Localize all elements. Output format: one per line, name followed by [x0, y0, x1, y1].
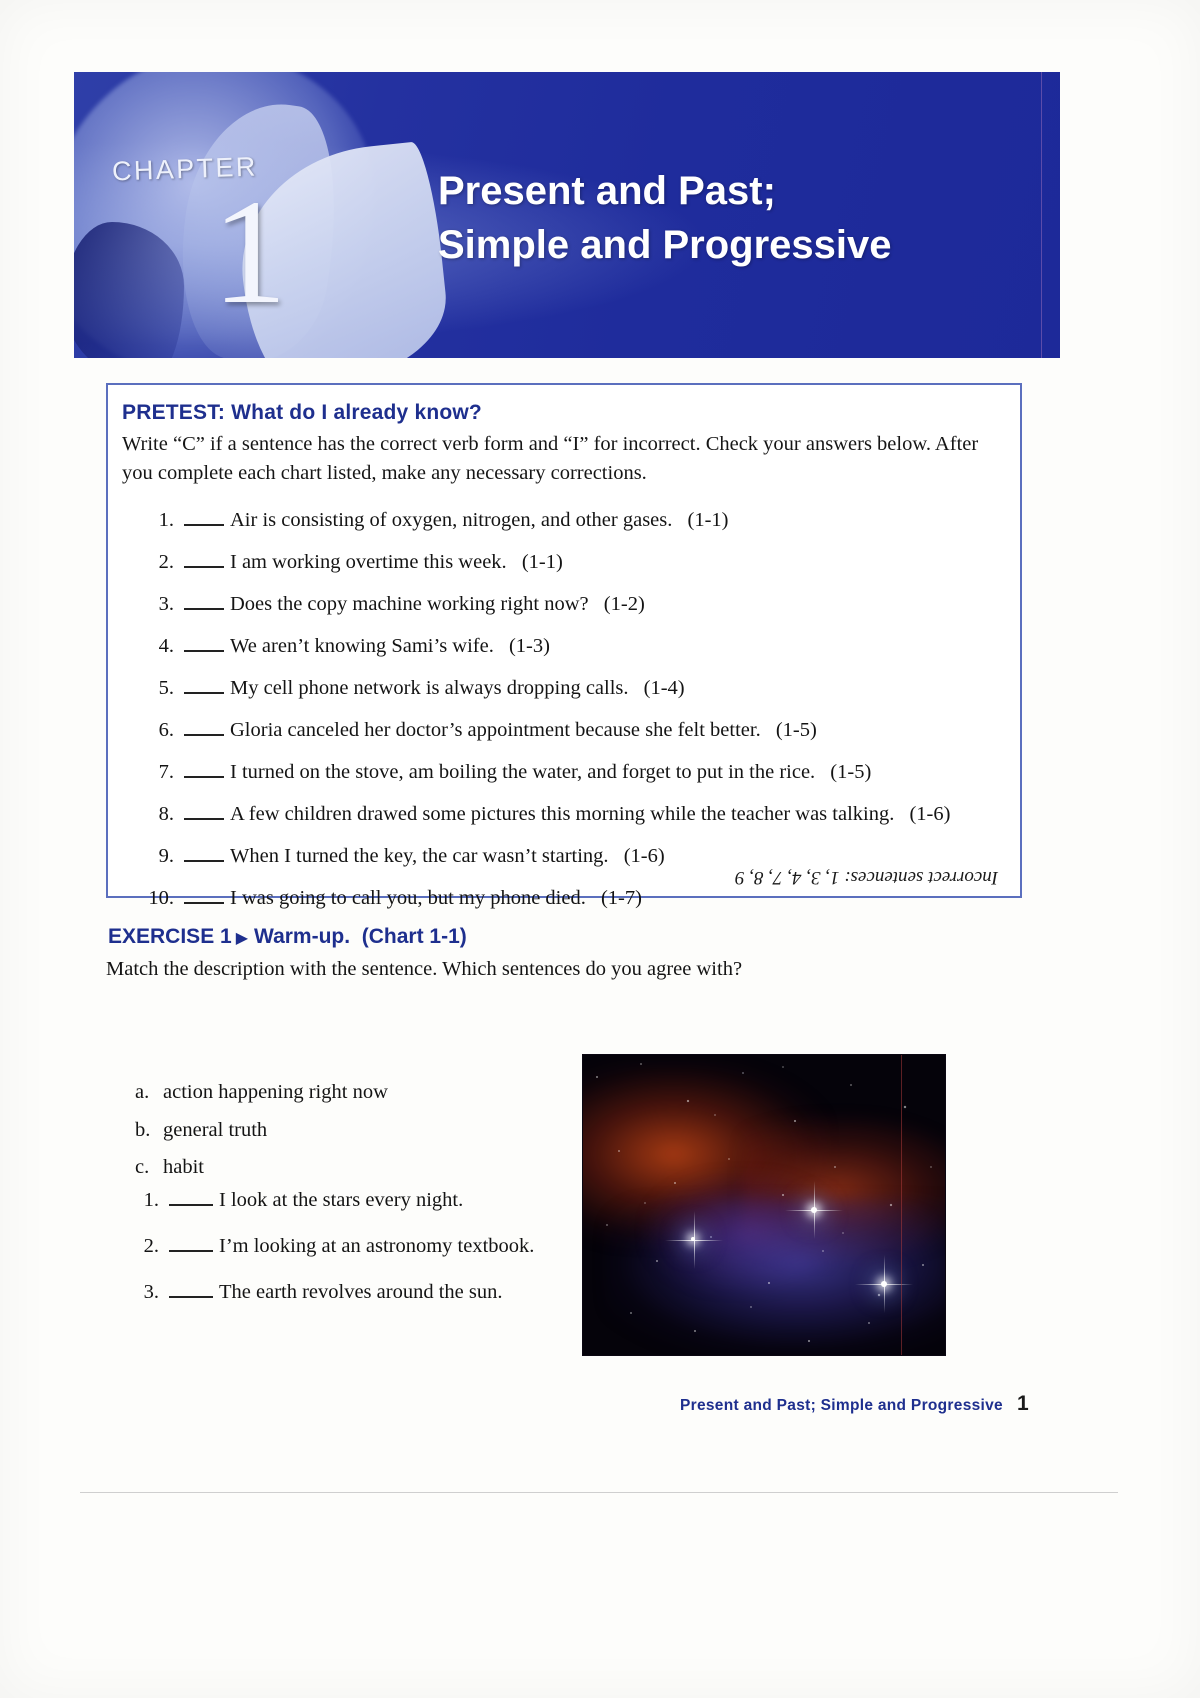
- chart-reference: (1-5): [776, 719, 817, 741]
- exercise-choice-list: a.action happening right now b.general t…: [135, 1082, 388, 1195]
- chart-reference: (1-6): [909, 803, 950, 825]
- item-sentence: A few children drawed some pictures this…: [230, 802, 1002, 827]
- exercise-item-list: 1. I look at the stars every night. 2. I…: [135, 1187, 565, 1325]
- choice-text: habit: [163, 1156, 204, 1178]
- bright-star-icon: [811, 1207, 817, 1213]
- choice-item: c.habit: [135, 1157, 388, 1178]
- pretest-item: 9. When I turned the key, the car wasn’t…: [122, 842, 1002, 868]
- answer-blank[interactable]: [184, 842, 224, 861]
- pretest-item: 4. We aren’t knowing Sami’s wife. (1-3): [122, 632, 1002, 658]
- answer-blank[interactable]: [169, 1187, 213, 1206]
- page-number: 1: [1017, 1392, 1029, 1415]
- item-number: 4.: [122, 634, 182, 659]
- choice-text: general truth: [163, 1119, 267, 1141]
- chart-reference: (1-6): [624, 845, 665, 867]
- chart-reference: (1-3): [509, 635, 550, 657]
- chapter-banner: CHAPTER 1 Present and Past; Simple and P…: [74, 72, 1060, 358]
- running-head: Present and Past; Simple and Progressive: [680, 1397, 1003, 1414]
- exercise-item: 2. I’m looking at an astronomy textbook.: [135, 1233, 565, 1259]
- item-sentence: I look at the stars every night.: [219, 1188, 463, 1213]
- bright-star-icon: [881, 1281, 887, 1287]
- item-number: 9.: [122, 844, 182, 869]
- exercise-label: EXERCISE 1: [108, 925, 232, 948]
- page-bottom-rule: [80, 1492, 1118, 1493]
- answer-blank[interactable]: [184, 590, 224, 609]
- chapter-title-line2: Simple and Progressive: [438, 218, 1038, 272]
- chapter-title-line1: Present and Past;: [438, 169, 776, 213]
- pretest-item: 5. My cell phone network is always dropp…: [122, 674, 1002, 700]
- choice-text: action happening right now: [163, 1081, 388, 1103]
- item-sentence: When I turned the key, the car wasn’t st…: [230, 844, 1002, 869]
- item-sentence: We aren’t knowing Sami’s wife. (1-3): [230, 634, 1002, 659]
- chart-reference: (1-4): [644, 677, 685, 699]
- answer-blank[interactable]: [169, 1279, 213, 1298]
- item-number: 1.: [135, 1188, 167, 1213]
- exercise-item: 3. The earth revolves around the sun.: [135, 1279, 565, 1305]
- triangle-right-icon: ▶: [232, 930, 254, 947]
- chart-reference: (1-1): [688, 509, 729, 531]
- pretest-title: PRETEST: What do I already know?: [122, 401, 1002, 425]
- pretest-item: 10. I was going to call you, but my phon…: [122, 884, 1002, 910]
- bright-star-icon: [691, 1237, 695, 1241]
- pretest-item-list: 1. Air is consisting of oxygen, nitrogen…: [122, 506, 1002, 910]
- textbook-page: CHAPTER 1 Present and Past; Simple and P…: [0, 0, 1200, 1698]
- item-sentence: Does the copy machine working right now?…: [230, 592, 1002, 617]
- item-number: 5.: [122, 676, 182, 701]
- item-number: 3.: [135, 1280, 167, 1305]
- item-number: 10.: [122, 886, 182, 911]
- pretest-instructions: Write “C” if a sentence has the correct …: [122, 430, 1002, 488]
- item-sentence: I turned on the stove, am boiling the wa…: [230, 760, 1002, 785]
- exercise-directions: Match the description with the sentence.…: [106, 955, 1006, 984]
- starfield-galaxy-photo: [582, 1054, 946, 1356]
- item-sentence: The earth revolves around the sun.: [219, 1280, 503, 1305]
- item-number: 2.: [122, 550, 182, 575]
- choice-label: c.: [135, 1157, 163, 1178]
- answer-blank[interactable]: [184, 884, 224, 903]
- chapter-title: Present and Past; Simple and Progressive: [438, 164, 1038, 273]
- item-number: 8.: [122, 802, 182, 827]
- chart-reference: (1-5): [830, 761, 871, 783]
- choice-item: a.action happening right now: [135, 1082, 388, 1103]
- pretest-item: 6. Gloria canceled her doctor’s appointm…: [122, 716, 1002, 742]
- answer-blank[interactable]: [184, 716, 224, 735]
- item-number: 1.: [122, 508, 182, 533]
- photo-scan-seam: [901, 1055, 902, 1355]
- banner-scan-hairline: [1041, 72, 1042, 358]
- exercise-subtitle: Warm-up.: [254, 925, 350, 948]
- star-field: [583, 1055, 945, 1355]
- exercise-chart-ref: (Chart 1-1): [362, 925, 467, 948]
- answer-blank[interactable]: [184, 548, 224, 567]
- pretest-item: 3. Does the copy machine working right n…: [122, 590, 1002, 616]
- answer-blank[interactable]: [184, 674, 224, 693]
- item-sentence: I am working overtime this week. (1-1): [230, 550, 1002, 575]
- exercise-heading: EXERCISE 1▶Warm-up. (Chart 1-1): [108, 925, 467, 949]
- answer-blank[interactable]: [169, 1233, 213, 1252]
- chapter-number: 1: [212, 177, 287, 327]
- item-sentence: My cell phone network is always dropping…: [230, 676, 1002, 701]
- pretest-item: 7. I turned on the stove, am boiling the…: [122, 758, 1002, 784]
- item-sentence: Gloria canceled her doctor’s appointment…: [230, 718, 1002, 743]
- pretest-box: PRETEST: What do I already know? Write “…: [106, 383, 1022, 898]
- item-sentence: I’m looking at an astronomy textbook.: [219, 1234, 534, 1259]
- choice-label: b.: [135, 1120, 163, 1141]
- item-number: 7.: [122, 760, 182, 785]
- answer-blank[interactable]: [184, 506, 224, 525]
- exercise-item: 1. I look at the stars every night.: [135, 1187, 565, 1213]
- item-number: 3.: [122, 592, 182, 617]
- answer-blank[interactable]: [184, 800, 224, 819]
- choice-label: a.: [135, 1082, 163, 1103]
- item-number: 6.: [122, 718, 182, 743]
- page-footer: Present and Past; Simple and Progressive…: [680, 1392, 1029, 1416]
- answer-blank[interactable]: [184, 758, 224, 777]
- chart-reference: (1-1): [522, 551, 563, 573]
- item-number: 2.: [135, 1234, 167, 1259]
- item-sentence: Air is consisting of oxygen, nitrogen, a…: [230, 508, 1002, 533]
- chart-reference: (1-7): [601, 887, 642, 909]
- pretest-item: 8. A few children drawed some pictures t…: [122, 800, 1002, 826]
- choice-item: b.general truth: [135, 1120, 388, 1141]
- pretest-item: 2. I am working overtime this week. (1-1…: [122, 548, 1002, 574]
- chart-reference: (1-2): [604, 593, 645, 615]
- answer-blank[interactable]: [184, 632, 224, 651]
- item-sentence: I was going to call you, but my phone di…: [230, 886, 1002, 911]
- pretest-item: 1. Air is consisting of oxygen, nitrogen…: [122, 506, 1002, 532]
- pretest-answer-key: Incorrect sentences: 1, 3, 4, 7, 8, 9: [735, 866, 998, 888]
